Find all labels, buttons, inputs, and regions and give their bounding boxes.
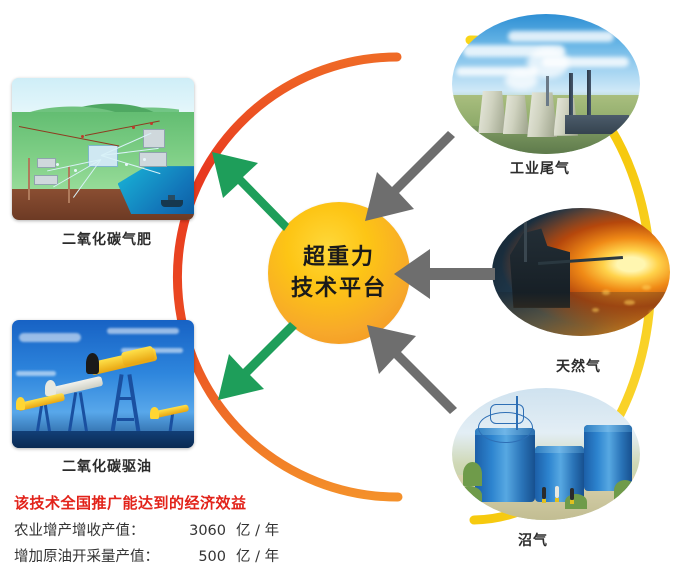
arrow-output-eor	[218, 322, 297, 400]
benefit-row-agriculture-unit: 亿 / 年	[236, 519, 279, 540]
benefit-heading: 该技术全国推广能达到的经济效益	[14, 492, 434, 513]
caption-co2-gas-fertilizer: 二氧化碳气肥	[62, 229, 152, 249]
arrow-input-natural-gas	[394, 249, 495, 299]
caption-industrial-exhaust-gas: 工业尾气	[510, 158, 570, 178]
benefit-row-agriculture: 农业增产增收产值： 3060 亿 / 年	[14, 519, 434, 540]
benefit-row-crude-oil-label: 增加原油开采量产值：	[14, 545, 180, 566]
benefit-row-crude-oil-unit: 亿 / 年	[236, 545, 279, 566]
economic-benefit-block: 该技术全国推广能达到的经济效益 农业增产增收产值： 3060 亿 / 年 增加原…	[14, 492, 434, 566]
benefit-row-agriculture-label: 农业增产增收产值：	[14, 519, 180, 540]
arrow-output-fertilizer	[212, 152, 289, 231]
benefit-row-crude-oil: 增加原油开采量产值： 500 亿 / 年	[14, 545, 434, 566]
arrow-input-industrial	[365, 131, 455, 221]
caption-biogas: 沼气	[518, 530, 548, 550]
caption-co2-eor: 二氧化碳驱油	[62, 456, 152, 476]
arrow-input-biogas	[367, 325, 457, 414]
caption-natural-gas: 天然气	[556, 356, 601, 376]
infographic-canvas: 二氧化碳气肥	[0, 0, 700, 580]
benefit-row-agriculture-value: 3060	[180, 523, 226, 539]
benefit-row-crude-oil-value: 500	[180, 549, 226, 565]
